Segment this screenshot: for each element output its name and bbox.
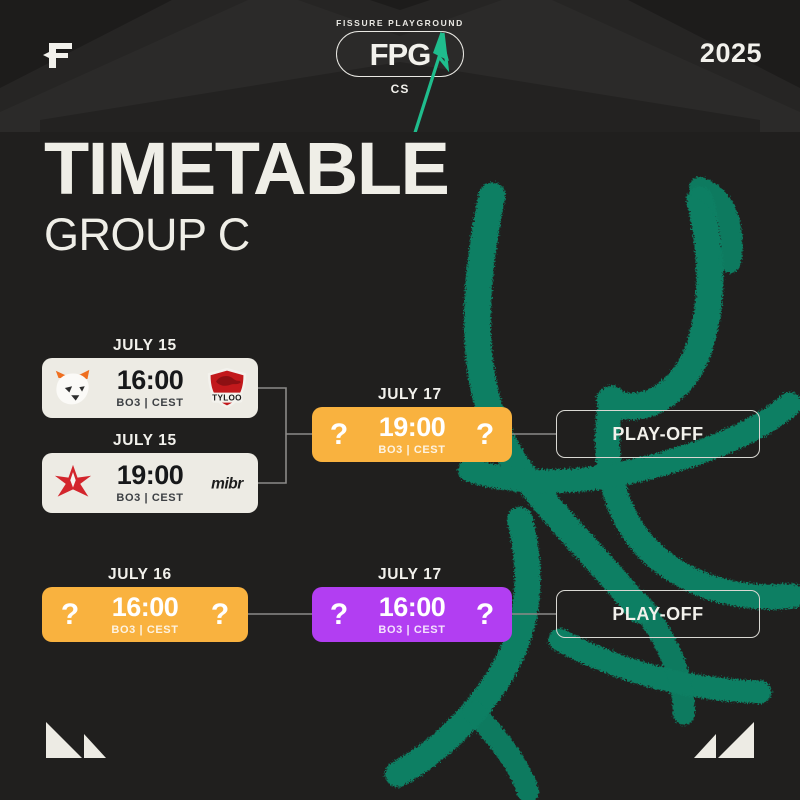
match-card-lower-round-1[interactable]: ? 16:00 BO3 | CEST ? [42,587,248,642]
unknown-team-icon: ? [211,600,229,630]
footer-triangles-right [694,716,770,762]
bracket-area: JULY 15 16:00 BO3 | CEST [0,0,800,800]
match-card-upper-semi-1[interactable]: 16:00 BO3 | CEST TYLOO [42,358,258,418]
mibr-logo-icon: mibr [201,473,253,493]
team-slot-left: ? [42,587,98,642]
match-info-lower-round-1: 16:00 BO3 | CEST [98,594,192,636]
match-time: 19:00 [104,462,196,489]
playoff-box-lower[interactable]: PLAY-OFF [556,590,760,638]
match-time: 19:00 [366,414,458,441]
match-meta: BO3 | CEST [104,492,196,504]
playoff-label: PLAY-OFF [612,604,703,625]
match-time: 16:00 [104,367,196,394]
astralis-logo-icon [53,464,93,502]
unknown-team-icon: ? [476,420,494,450]
match-card-upper-final[interactable]: ? 19:00 BO3 | CEST ? [312,407,512,462]
team-slot-left [42,453,104,513]
playoff-label: PLAY-OFF [612,424,703,445]
team-slot-right: mibr [196,453,258,513]
match-info-upper-semi-1: 16:00 BO3 | CEST [104,367,196,409]
unknown-team-icon: ? [476,600,494,630]
unknown-team-icon: ? [61,600,79,630]
match-meta: BO3 | CEST [366,444,458,456]
unknown-team-icon: ? [330,600,348,630]
team-slot-right: TYLOO [196,358,258,418]
team-slot-right: ? [192,587,248,642]
team-slot-left [42,358,104,418]
match-meta: BO3 | CEST [366,624,458,636]
match-info-upper-final: 19:00 BO3 | CEST [366,414,458,456]
match-time: 16:00 [366,594,458,621]
team-slot-right: ? [458,407,512,462]
timetable-poster: FISSURE PLAYGROUND FPG CS 2025 TIMETABLE… [0,0,800,800]
team-slot-left: ? [312,407,366,462]
tyloo-logo-icon: TYLOO [205,367,249,409]
match-card-lower-final[interactable]: ? 16:00 BO3 | CEST ? [312,587,512,642]
match-card-upper-semi-2[interactable]: 19:00 BO3 | CEST mibr [42,453,258,513]
match-meta: BO3 | CEST [104,397,196,409]
svg-text:TYLOO: TYLOO [212,393,242,402]
virtuspro-logo-icon [52,369,94,407]
svg-text:mibr: mibr [211,475,244,492]
team-slot-left: ? [312,587,366,642]
match-date-upper-final: JULY 17 [378,386,442,404]
playoff-box-upper[interactable]: PLAY-OFF [556,410,760,458]
match-date-upper-semi-2: JULY 15 [113,432,177,450]
match-info-upper-semi-2: 19:00 BO3 | CEST [104,462,196,504]
match-date-upper-semi-1: JULY 15 [113,337,177,355]
match-date-lower-final: JULY 17 [378,566,442,584]
match-meta: BO3 | CEST [98,624,192,636]
unknown-team-icon: ? [330,420,348,450]
match-time: 16:00 [98,594,192,621]
match-info-lower-final: 16:00 BO3 | CEST [366,594,458,636]
match-date-lower-round-1: JULY 16 [108,566,172,584]
footer-triangles-left [30,716,106,762]
team-slot-right: ? [458,587,512,642]
